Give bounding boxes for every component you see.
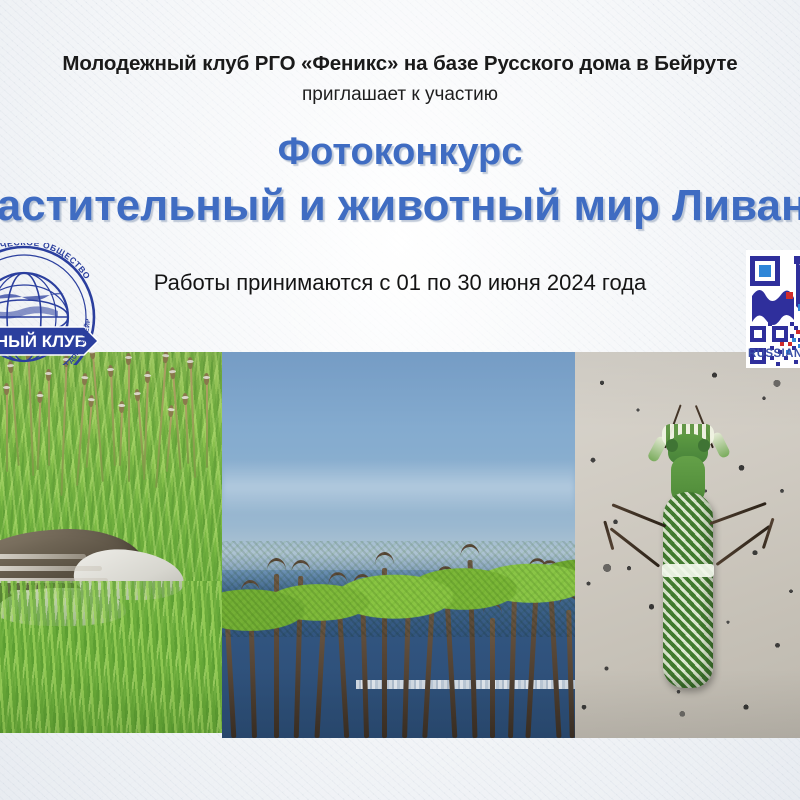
- logo-banner-text: МОЛОДЕЖНЫЙ КЛУБ: [0, 332, 87, 351]
- mantis-leg: [611, 503, 666, 527]
- invitation-line: приглашает к участию: [0, 84, 800, 106]
- mantis-leg: [609, 527, 659, 567]
- photo-goose-in-grass: [0, 352, 222, 733]
- plantain-seed-head: [108, 365, 113, 377]
- plantain-stem: [6, 392, 8, 472]
- qr-caption: RUSSIAN: [748, 348, 800, 360]
- plantain-seed-head: [4, 383, 9, 395]
- page-title: Фотоконкурс: [0, 131, 800, 174]
- foreground-grass: [0, 581, 222, 733]
- photo-green-mantis-on-stone: [575, 352, 800, 738]
- organizer-line: Молодежный клуб РГО «Феникс» на базе Рус…: [0, 52, 800, 76]
- plantain-stem: [206, 382, 208, 468]
- wing-bar: [0, 566, 102, 571]
- mantis-leg: [709, 502, 766, 525]
- photo-strip: [0, 352, 800, 738]
- wing-bar: [0, 554, 86, 559]
- mantis-insect: [608, 396, 768, 696]
- mantis-abdomen-band: [662, 564, 714, 577]
- rgo-youth-club-logo: МОЛОДЕЖНЫЙ КЛУБ ГЕОГРАФИЧЕСКОЕ ОБЩЕСТВО …: [0, 243, 124, 365]
- photo-contest-poster: Молодежный клуб РГО «Феникс» на базе Рус…: [0, 0, 800, 800]
- plantain-seed-head: [126, 353, 131, 365]
- plantain-seed-head: [188, 357, 193, 369]
- plantain-seed-head: [183, 393, 188, 405]
- distant-coastal-city: [356, 680, 575, 689]
- contest-theme: Растительный и животный мир Ливана: [0, 181, 800, 231]
- plantain-stem: [128, 362, 130, 482]
- plantain-seed-head: [204, 373, 209, 385]
- plantain-stem: [48, 378, 50, 466]
- pine-canopy-texture: [222, 541, 575, 637]
- photo-stone-pines-over-sea: [222, 352, 575, 738]
- rgo-logo-graphic: МОЛОДЕЖНЫЙ КЛУБ ГЕОГРАФИЧЕСКОЕ ОБЩЕСТВО …: [0, 243, 124, 365]
- plantain-seed-head: [46, 369, 51, 381]
- mantis-abdomen: [663, 492, 713, 688]
- cloud-band: [222, 460, 575, 514]
